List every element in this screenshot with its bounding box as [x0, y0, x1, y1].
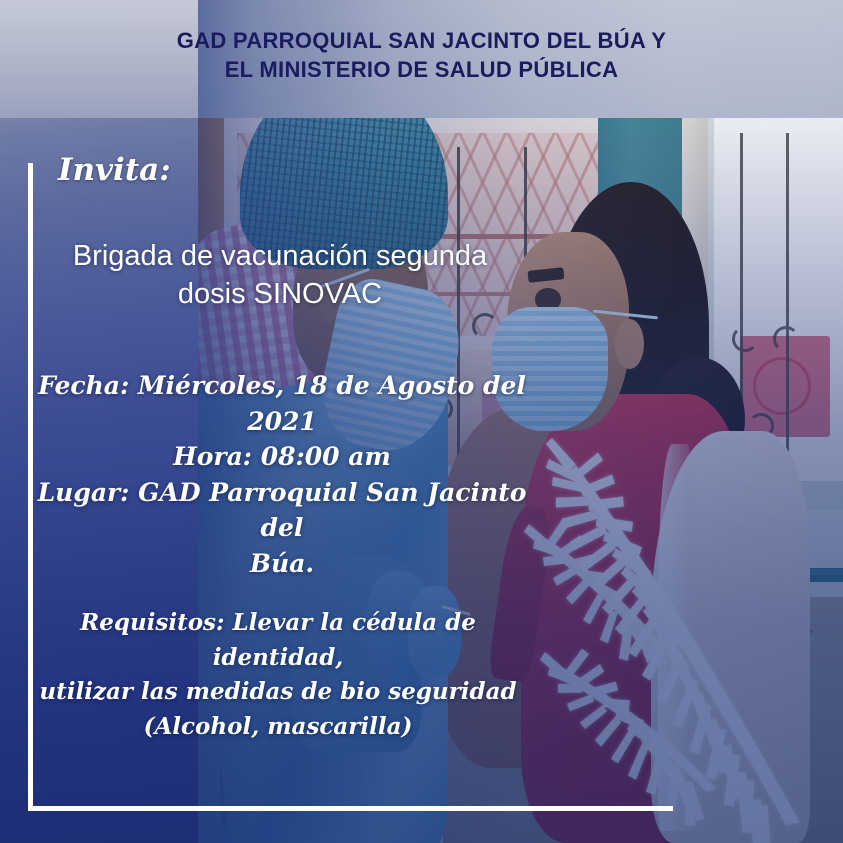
detail-lugar-line-2: Búa.: [22, 546, 542, 582]
requirement-line-3: (Alcohol, mascarilla): [28, 710, 528, 745]
poster-canvas: GAD PARROQUIAL SAN JACINTO DEL BÚA Y EL …: [0, 0, 843, 843]
page-title: GAD PARROQUIAL SAN JACINTO DEL BÚA Y EL …: [0, 26, 843, 84]
detail-hora: Hora: 08:00 am: [22, 439, 542, 475]
header-line-1: GAD PARROQUIAL SAN JACINTO DEL BÚA Y: [177, 28, 667, 53]
frame-horizontal-line: [28, 806, 673, 811]
invitation-label: Invita:: [58, 152, 171, 188]
requirement-line-2: utilizar las medidas de bio seguridad: [28, 675, 528, 710]
event-title: Brigada de vacunación segunda dosis SINO…: [20, 238, 540, 313]
header-line-2: EL MINISTERIO DE SALUD PÚBLICA: [225, 57, 619, 82]
event-title-line-2: dosis SINOVAC: [20, 276, 540, 314]
event-details: Fecha: Miércoles, 18 de Agosto del 2021 …: [22, 368, 542, 581]
detail-lugar-line-1: Lugar: GAD Parroquial San Jacinto del: [22, 475, 542, 546]
detail-fecha: Fecha: Miércoles, 18 de Agosto del 2021: [22, 368, 542, 439]
event-title-line-1: Brigada de vacunación segunda: [20, 238, 540, 276]
requirement-line-1: Requisitos: Llevar la cédula de identida…: [28, 606, 528, 675]
requirements-block: Requisitos: Llevar la cédula de identida…: [28, 606, 528, 744]
